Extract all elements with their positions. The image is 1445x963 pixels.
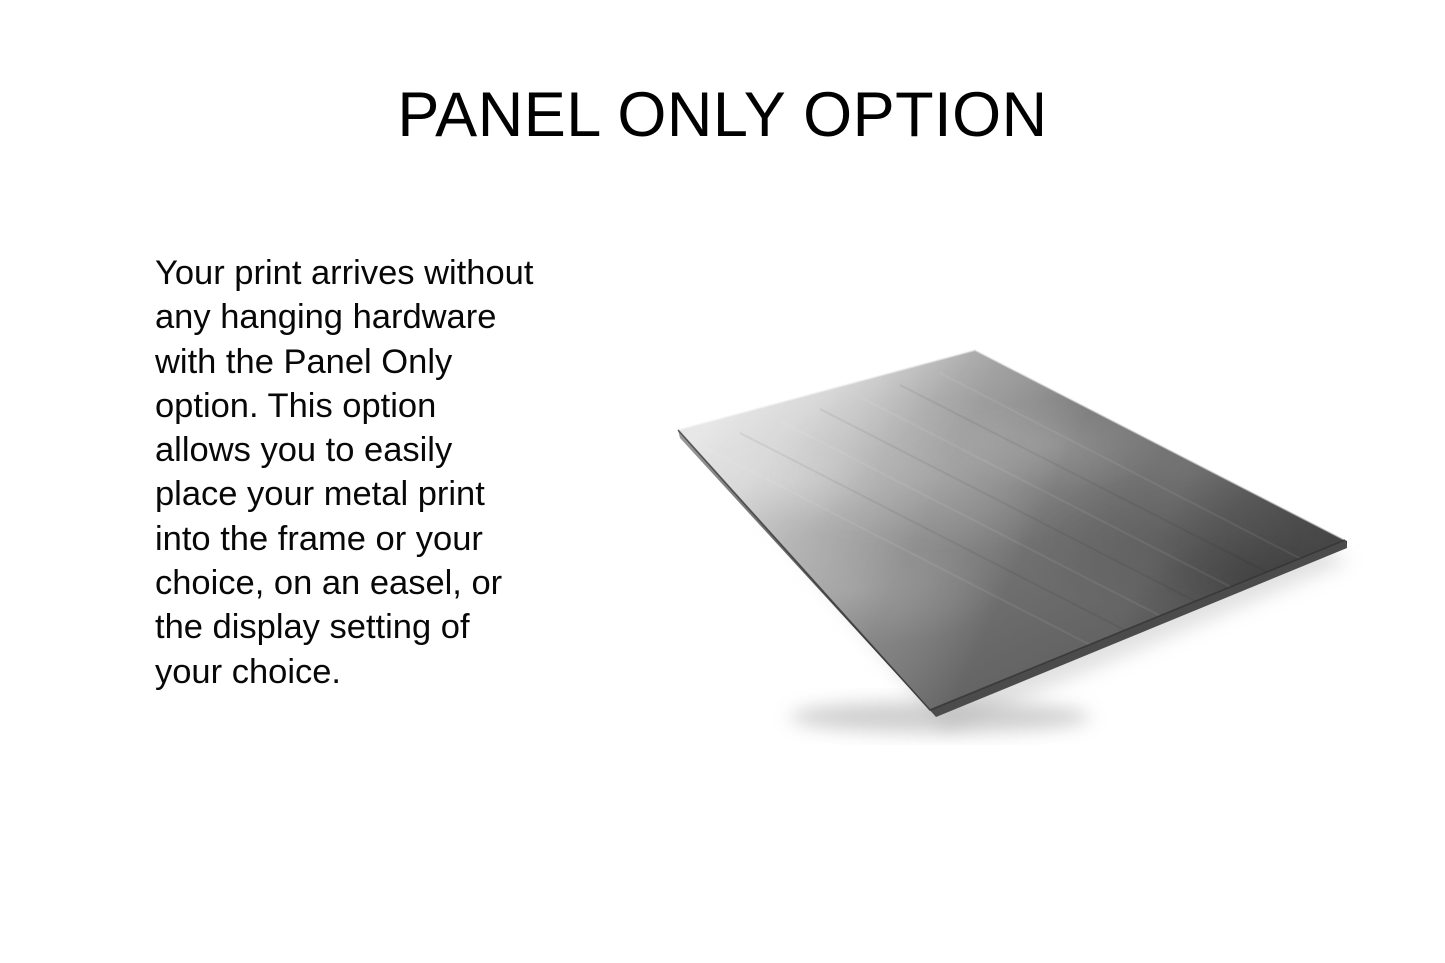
metal-panel-graphic: [640, 325, 1380, 745]
body-paragraph: Your print arrives without any hanging h…: [155, 251, 585, 694]
metal-print-panel-image: [640, 325, 1380, 745]
body-line: allows you to easily: [155, 428, 585, 472]
slide-canvas: PANEL ONLY OPTION Your print arrives wit…: [0, 0, 1445, 963]
panel-face: [678, 350, 1345, 710]
page-title: PANEL ONLY OPTION: [0, 78, 1445, 152]
body-line: into the frame or your: [155, 517, 585, 561]
body-line: choice, on an easel, or: [155, 561, 585, 605]
body-line: place your metal print: [155, 472, 585, 516]
body-line: any hanging hardware: [155, 295, 585, 339]
body-line: option. This option: [155, 384, 585, 428]
body-line: Your print arrives without: [155, 251, 585, 295]
body-line: your choice.: [155, 650, 585, 694]
body-line: with the Panel Only: [155, 340, 585, 384]
body-line: the display setting of: [155, 605, 585, 649]
